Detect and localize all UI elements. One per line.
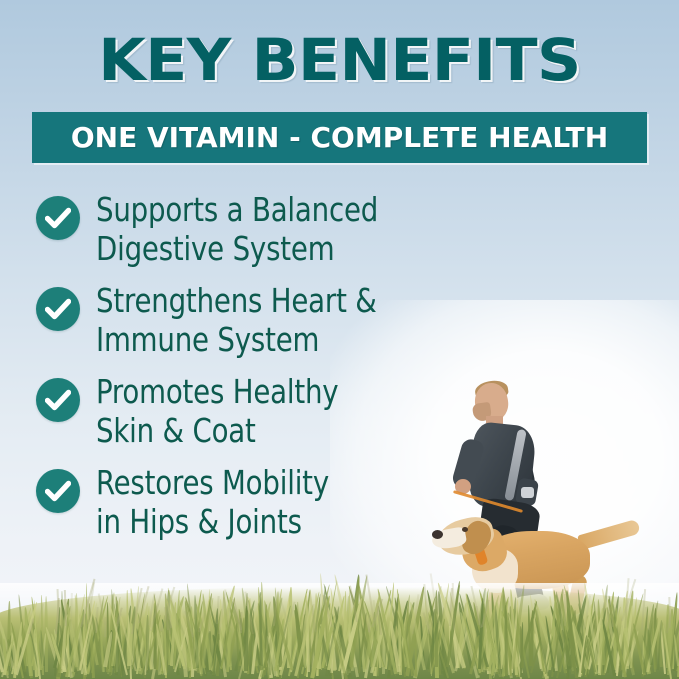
check-circle-icon: [36, 378, 80, 422]
benefit-item: Restores Mobility in Hips & Joints: [36, 463, 506, 541]
runner-buckle: [521, 487, 534, 498]
benefits-list: Supports a Balanced Digestive System Str…: [36, 190, 506, 554]
benefit-label: Promotes Healthy Skin & Coat: [96, 372, 338, 450]
key-benefits-poster: KEY BENEFITS ONE VITAMIN - COMPLETE HEAL…: [0, 0, 679, 679]
check-circle-icon: [36, 287, 80, 331]
grass-seedhead: [564, 594, 566, 626]
subtitle-banner: ONE VITAMIN - COMPLETE HEALTH: [32, 112, 647, 163]
page-title: KEY BENEFITS: [0, 28, 679, 92]
benefit-label: Supports a Balanced Digestive System: [96, 190, 378, 268]
check-circle-icon: [36, 469, 80, 513]
benefit-item: Strengthens Heart & Immune System: [36, 281, 506, 359]
check-circle-icon: [36, 196, 80, 240]
benefit-label: Restores Mobility in Hips & Joints: [96, 463, 329, 541]
grass-seedhead: [312, 604, 314, 633]
subtitle-banner-text: ONE VITAMIN - COMPLETE HEALTH: [71, 121, 608, 154]
benefit-item: Supports a Balanced Digestive System: [36, 190, 506, 268]
benefit-item: Promotes Healthy Skin & Coat: [36, 372, 506, 450]
benefit-label: Strengthens Heart & Immune System: [96, 281, 377, 359]
